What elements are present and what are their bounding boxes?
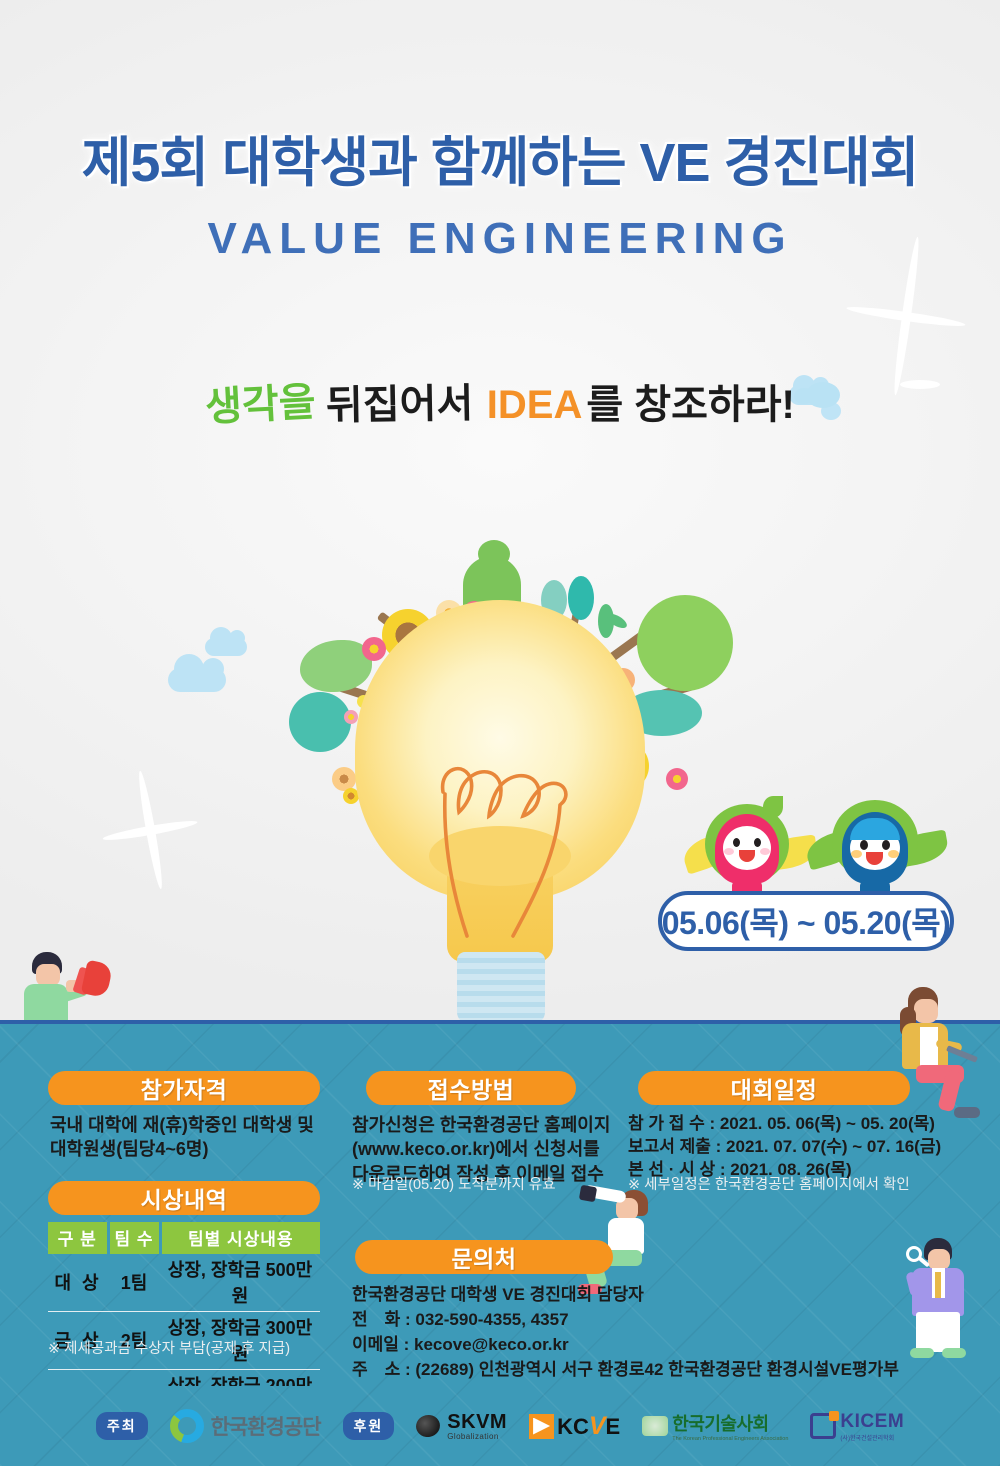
tagline: 생각을뒤집어서IDEA를 창조하라!: [0, 372, 1000, 430]
person-megaphone-illustration: [14, 952, 110, 1020]
kts-name: 한국기술사회: [672, 1410, 788, 1436]
skvm-name: SKVM: [447, 1412, 507, 1432]
globe-icon: [414, 1413, 442, 1440]
kicem-name: KICEM: [840, 1411, 904, 1433]
skvm-sub: Globalization: [447, 1432, 507, 1441]
table-header-row: 구 분 팀 수 팀별 시상내용: [48, 1222, 320, 1254]
kicem-mark-icon: [810, 1413, 836, 1439]
logo-skvm: SKVM Globalization: [416, 1412, 507, 1441]
page-subtitle: VALUE ENGINEERING: [0, 214, 1000, 264]
panel-body-eligibility: 국내 대학에 재(휴)학중인 대학생 및 대학원생(팀당4~6명): [50, 1113, 340, 1162]
tagline-part-3: IDEA: [487, 383, 583, 428]
cell-prize: 상장, 장학금 500만원: [160, 1254, 320, 1312]
tagline-part-4: 를 창조하라!: [586, 372, 794, 430]
panel-heading-awards: 시상내역: [48, 1181, 320, 1215]
table-col-prize: 팀별 시상내용: [160, 1222, 320, 1254]
cell-teams: 1팀: [108, 1254, 160, 1312]
logo-kcve: KCVE: [529, 1412, 620, 1441]
lightbulb-illustration: [355, 600, 645, 1020]
panel-heading-contact: 문의처: [355, 1240, 613, 1274]
table-col-category: 구 분: [48, 1222, 108, 1254]
host-tag: 주최: [96, 1412, 148, 1440]
kts-mark-icon: [642, 1416, 668, 1436]
kts-sub: The Korean Professional Engineers Associ…: [672, 1436, 788, 1442]
logo-row: 주최 한국환경공단 후원 SKVM Globalization KCVE 한국기…: [0, 1396, 1000, 1456]
mascot-blue: [822, 800, 932, 898]
kcve-name: KCVE: [557, 1412, 620, 1441]
sponsor-tag: 후원: [343, 1412, 395, 1440]
tagline-blob-decoration: [806, 382, 840, 408]
panel-heading-eligibility: 참가자격: [48, 1071, 320, 1105]
sparkle-icon: [92, 763, 207, 898]
logo-keco: 한국환경공단: [170, 1409, 321, 1443]
contact-line-2: 전 화 : 032-590-4355, 4357: [352, 1308, 892, 1333]
panel-note-awards: ※ 제세공과금 수상자 부담(공제 후 지급): [48, 1340, 348, 1359]
date-badge: 05.06(목) ~ 05.20(목): [658, 891, 954, 951]
keco-ring-icon: [170, 1409, 204, 1443]
panel-body-schedule: 참 가 접 수 : 2021. 05. 06(목) ~ 05. 20(목) 보고…: [628, 1113, 988, 1182]
contact-line-4: 주 소 : (22689) 인천광역시 서구 환경로42 한국환경공단 환경시설…: [352, 1358, 952, 1383]
keco-name: 한국환경공단: [211, 1411, 321, 1441]
page-title: 제5회 대학생과 함께하는 VE 경진대회: [0, 118, 1000, 197]
panel-heading-schedule: 대회일정: [638, 1071, 910, 1105]
person-magnifier-illustration: [898, 1238, 988, 1358]
logo-kicem: KICEM (사)한국건설관리학회: [810, 1411, 904, 1442]
hero-section: 제5회 대학생과 함께하는 VE 경진대회 VALUE ENGINEERING …: [0, 0, 1000, 1020]
logo-kts: 한국기술사회 The Korean Professional Engineers…: [642, 1410, 788, 1442]
panel-heading-how-to-apply: 접수방법: [366, 1071, 576, 1105]
cloud-icon: [168, 668, 226, 692]
cell-category: 대 상: [48, 1254, 108, 1312]
cloud-icon: [205, 638, 247, 656]
contact-line-3: 이메일 : kecove@keco.or.kr: [352, 1333, 892, 1358]
table-row: 대 상 1팀 상장, 장학금 500만원: [48, 1254, 320, 1312]
tagline-part-2: 뒤집어서: [325, 371, 473, 432]
contact-line-1: 한국환경공단 대학생 VE 경진대회 담당자: [352, 1283, 892, 1308]
kicem-sub: (사)한국건설관리학회: [840, 1433, 904, 1442]
table-col-teams: 팀 수: [108, 1222, 160, 1254]
tagline-part-1: 생각을: [204, 369, 317, 433]
poster-root: 제5회 대학생과 함께하는 VE 경진대회 VALUE ENGINEERING …: [0, 0, 1000, 1466]
kcve-mark-icon: [529, 1414, 554, 1439]
panel-note-schedule: ※ 세부일정은 한국환경공단 홈페이지에서 확인: [628, 1176, 988, 1195]
mascot-pink: [697, 802, 805, 898]
